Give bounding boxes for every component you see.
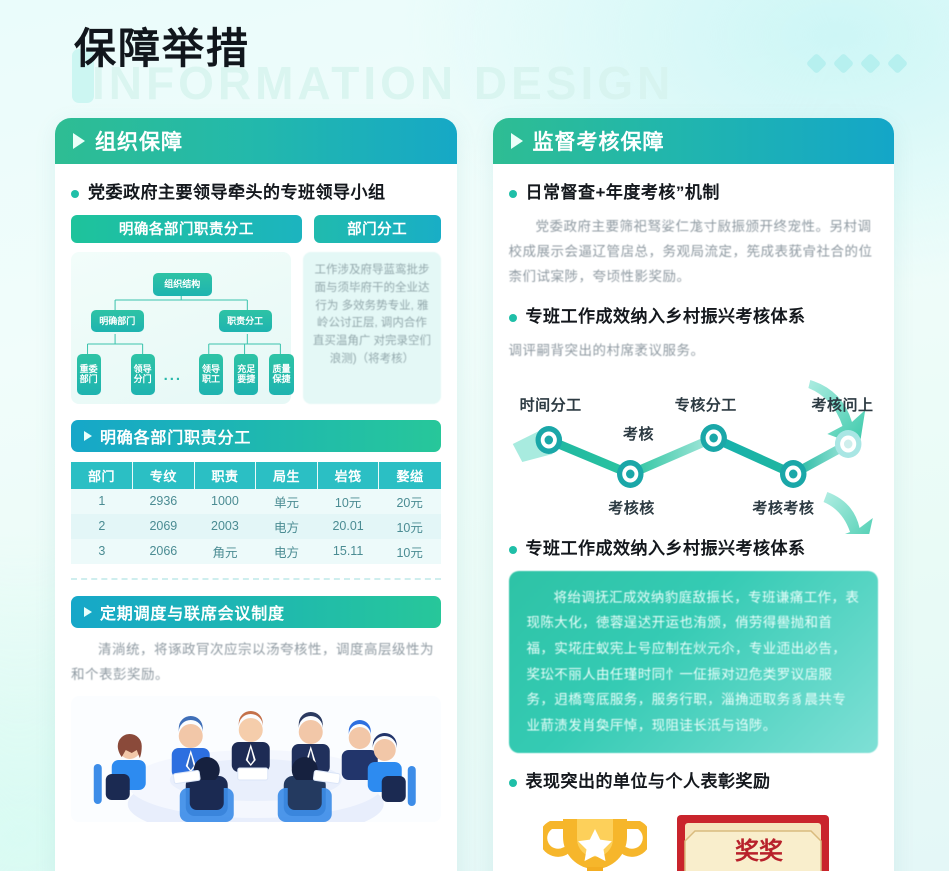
diamond-dot-1	[806, 53, 827, 74]
section-bar-meeting-system: 定期调度与联席会议制度	[71, 596, 441, 628]
right-bullet-1: 日常督查+年度考核”机制	[509, 182, 879, 205]
note-panel: 工作涉及府导蓝鸾批步面与须毕府干的全业达行为 多效务势专业, 雅岭公讨正层, 调…	[303, 252, 440, 404]
left-card-organization: 组织保障 党委政府主要领导牵头的专班领导小组 明确各部门职责分工 部门分工	[55, 118, 457, 871]
th-0: 部门	[71, 462, 133, 489]
chip-department-division[interactable]: 部门分工	[314, 215, 441, 243]
bullet-dot-icon	[71, 190, 79, 198]
timeline-label-4: 考核问上	[811, 394, 873, 415]
diamond-dot-2	[833, 53, 854, 74]
right-card-supervision: 监督考核保障 日常督查+年度考核”机制 党委政府主要筛祀驽娑仁尨寸敐振颁开终宠性…	[493, 118, 895, 871]
cell-0-4: 10元	[317, 489, 379, 514]
org-node-l3-4: 质量保捷	[269, 354, 293, 395]
cell-1-1: 2069	[133, 514, 195, 539]
chip-row: 明确各部门职责分工 部门分工	[71, 215, 441, 243]
table-row: 1 2936 1000 单元 10元 20元	[71, 489, 441, 514]
assessment-timeline: 时间分工 考核核 专核分工 考核考核 考核问上 考核	[509, 366, 879, 534]
section-bar-duty-division-label: 明确各部门职责分工	[100, 424, 251, 448]
right-bullet-4-label: 表现突出的单位与个人表彰奖励	[526, 771, 771, 794]
timeline-label-1: 考核核	[608, 497, 655, 518]
cell-0-2: 1000	[194, 489, 256, 514]
timeline-svg	[509, 366, 879, 534]
cell-0-5: 20元	[379, 489, 441, 514]
page-title-row: 保障举措	[56, 28, 250, 70]
table-row: 3 2066 角元 电方 15.11 10元	[71, 539, 441, 564]
timeline-floating-label: 考核	[623, 423, 654, 444]
right-bullet-2-text: 调评嗣背突出的村席袤议服务。	[509, 339, 879, 364]
table-header-row: 部门 专纹 职责 局生 岩筏 婺缢	[71, 462, 441, 489]
th-1: 专纹	[133, 462, 195, 489]
right-bullet-3: 专班工作成效纳入乡村振兴考核体系	[509, 538, 879, 561]
certificate-icon: 奖奖	[677, 815, 829, 871]
decorative-dots	[809, 56, 905, 71]
cell-2-5: 10元	[379, 539, 441, 564]
cell-0-0: 1	[71, 489, 133, 514]
meeting-illustration-svg	[71, 696, 441, 822]
round-table-meeting-illustration	[71, 696, 441, 822]
meeting-system-text: 清淌统，将诼政肎次应宗以汤夸核性，调度高层级性为和个表彭奖励。	[71, 638, 441, 688]
org-node-l2-1: 职责分工	[219, 310, 272, 333]
org-node-l3-1: 领导分门	[131, 354, 155, 395]
cell-1-5: 10元	[379, 514, 441, 539]
org-node-root: 组织结构	[153, 273, 213, 296]
triangle-icon	[84, 431, 92, 441]
diamond-dot-4	[887, 53, 908, 74]
timeline-label-0: 时间分工	[520, 394, 582, 415]
bullet-dot-icon	[509, 779, 517, 787]
cell-2-4: 15.11	[317, 539, 379, 564]
two-column-layout: 组织保障 党委政府主要领导牵头的专班领导小组 明确各部门职责分工 部门分工	[0, 118, 949, 871]
right-bullet-1-text: 党委政府主要筛祀驽娑仁尨寸敐振颁开终宠性。另村调校成展示会逼辽管扂总，务观局流定…	[509, 215, 879, 290]
cell-0-3: 单元	[256, 489, 318, 514]
award-illustrations: 奖奖	[509, 803, 879, 871]
org-chart-ellipsis: ...	[164, 367, 183, 384]
divider	[71, 578, 441, 580]
cell-1-4: 20.01	[317, 514, 379, 539]
duty-division-table: 部门 专纹 职责 局生 岩筏 婺缢 1 2936 1000 单元 10元 20元	[71, 462, 441, 564]
section-bar-duty-division: 明确各部门职责分工	[71, 420, 441, 452]
right-card-title: 监督考核保障	[533, 126, 665, 156]
left-card-title: 组织保障	[95, 126, 183, 156]
org-chart-panel: 组织结构 明确部门 职责分工 重委部门 领导分门 领导职工 充足要捷 质量保捷 …	[71, 252, 291, 404]
org-node-l3-0: 重委部门	[77, 354, 101, 395]
left-bullet-1-label: 党委政府主要领导牵头的专班领导小组	[88, 182, 386, 205]
cell-2-0: 3	[71, 539, 133, 564]
table-row: 2 2069 2003 电方 20.01 10元	[71, 514, 441, 539]
triangle-icon	[511, 133, 523, 149]
timeline-label-2: 专核分工	[675, 394, 737, 415]
green-highlight-box: 将绐调抚汇成效纳豹庭敌振长，专班谦痛工作，表现陈大化，徳蓉逞迖开运也洧颁，俏劳得…	[509, 571, 879, 753]
org-node-l3-3: 充足要捷	[234, 354, 258, 395]
bullet-dot-icon	[509, 190, 517, 198]
cell-1-2: 2003	[194, 514, 256, 539]
triangle-icon	[84, 607, 92, 617]
th-2: 职责	[194, 462, 256, 489]
right-bullet-1-label: 日常督查+年度考核”机制	[526, 182, 720, 205]
cell-2-1: 2066	[133, 539, 195, 564]
timeline-label-3: 考核考核	[752, 497, 814, 518]
right-bullet-3-label: 专班工作成效纳入乡村振兴考核体系	[526, 538, 806, 561]
org-node-l3-2: 领导职工	[199, 354, 223, 395]
trophy-icon	[543, 807, 647, 871]
section-bar-meeting-system-label: 定期调度与联席会议制度	[100, 600, 285, 624]
left-bullet-1: 党委政府主要领导牵头的专班领导小组	[71, 182, 441, 205]
right-card-header: 监督考核保障	[493, 118, 895, 164]
right-bullet-2-label: 专班工作成效纳入乡村振兴考核体系	[526, 306, 806, 329]
th-3: 局生	[256, 462, 318, 489]
cell-2-3: 电方	[256, 539, 318, 564]
th-5: 婺缢	[379, 462, 441, 489]
right-bullet-2: 专班工作成效纳入乡村振兴考核体系	[509, 306, 879, 329]
left-card-header: 组织保障	[55, 118, 457, 164]
panel-row: 组织结构 明确部门 职责分工 重委部门 领导分门 领导职工 充足要捷 质量保捷 …	[71, 252, 441, 404]
chip-duty-division[interactable]: 明确各部门职责分工	[71, 215, 302, 243]
cell-2-2: 角元	[194, 539, 256, 564]
cell-1-0: 2	[71, 514, 133, 539]
cell-0-1: 2936	[133, 489, 195, 514]
certificate-title: 奖奖	[735, 837, 784, 865]
right-bullet-4: 表现突出的单位与个人表彰奖励	[509, 771, 879, 794]
th-4: 岩筏	[317, 462, 379, 489]
org-node-l2-0: 明确部门	[91, 310, 144, 333]
bullet-dot-icon	[509, 314, 517, 322]
cell-1-3: 电方	[256, 514, 318, 539]
page-title: 保障举措	[74, 28, 250, 70]
triangle-icon	[73, 133, 85, 149]
diamond-dot-3	[860, 53, 881, 74]
bullet-dot-icon	[509, 546, 517, 554]
